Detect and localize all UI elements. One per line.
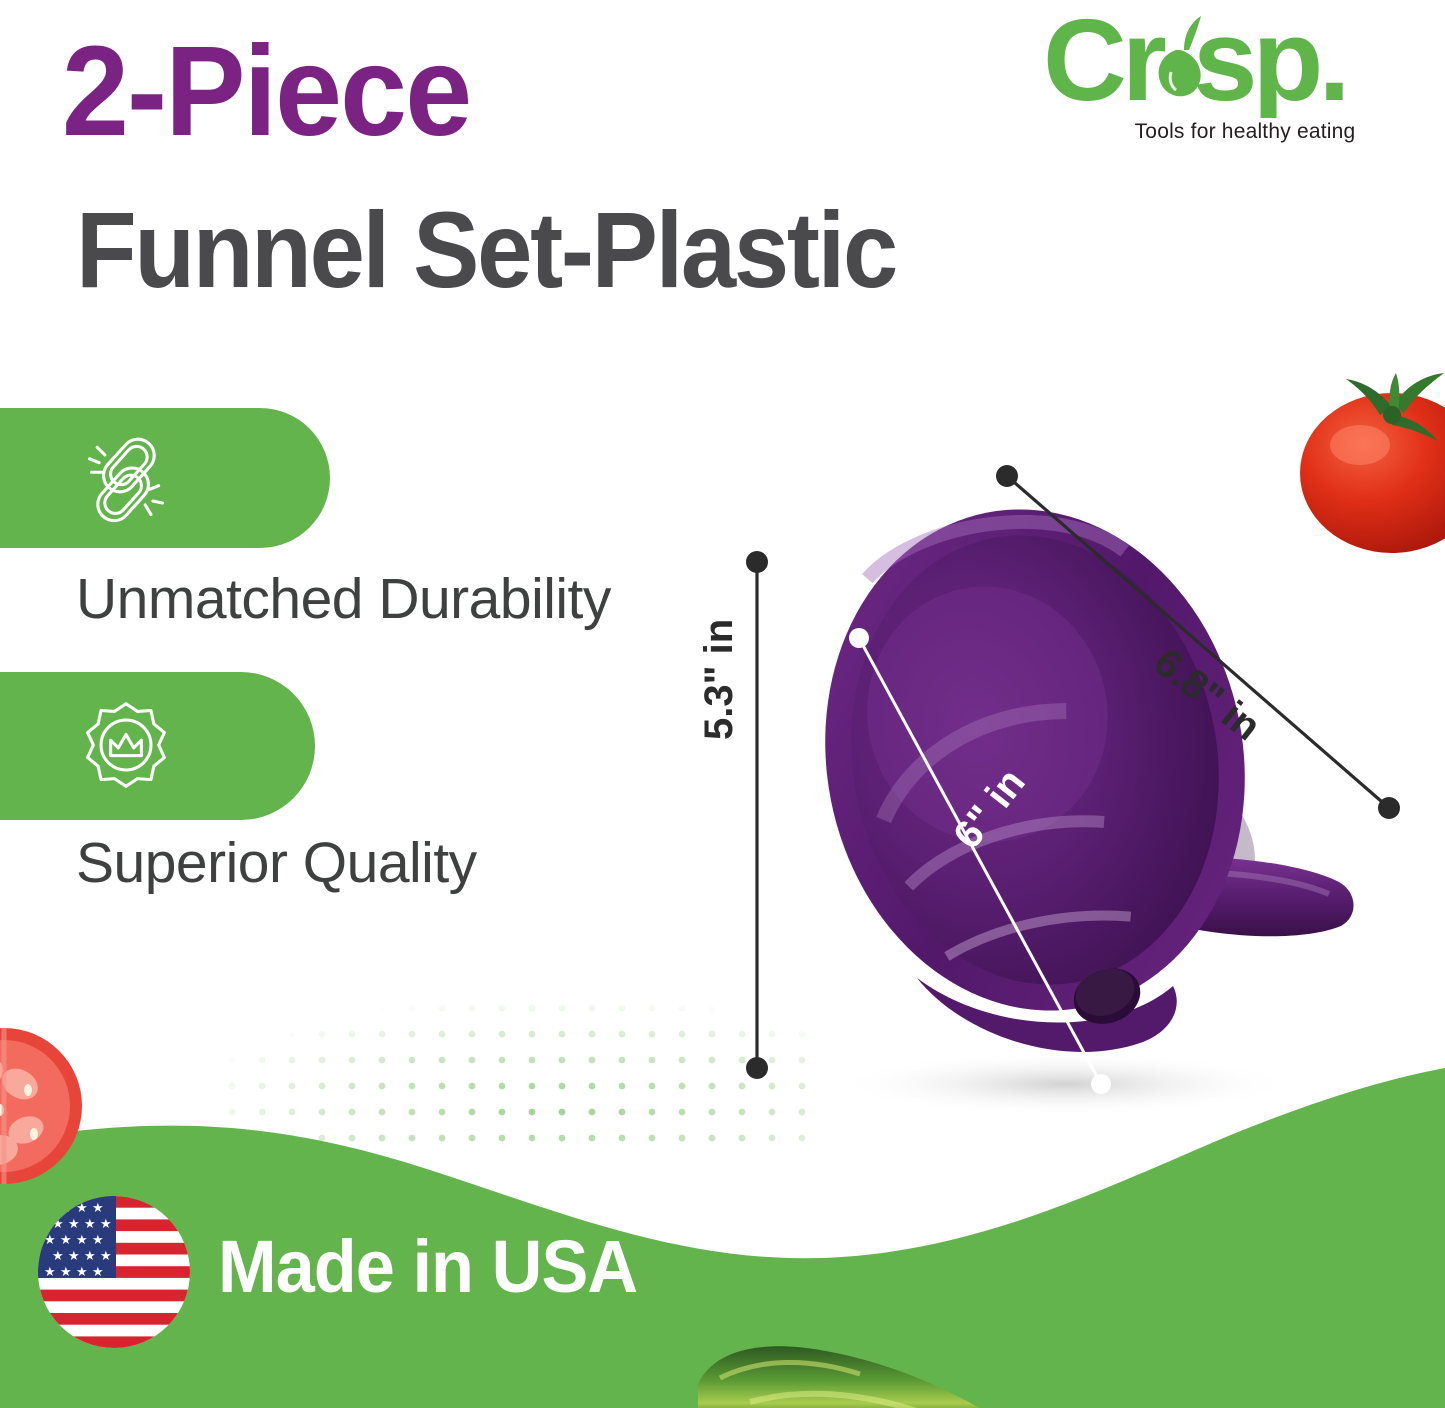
feature-label-durability: Unmatched Durability bbox=[76, 566, 611, 632]
dimension-dot bbox=[1378, 797, 1400, 819]
made-in-usa-label: Made in USA bbox=[218, 1224, 637, 1309]
svg-text:★: ★ bbox=[100, 1249, 112, 1264]
svg-text:Cr: Cr bbox=[1043, 8, 1166, 118]
chain-link-icon bbox=[78, 430, 174, 526]
crisp-logo-mark: Cr sp. bbox=[1043, 8, 1433, 118]
svg-text:★: ★ bbox=[84, 1217, 96, 1232]
crown-badge-icon bbox=[78, 698, 174, 794]
brand-tagline: Tools for healthy eating bbox=[1065, 120, 1425, 144]
svg-text:★: ★ bbox=[76, 1265, 88, 1280]
dimension-label-height: 5.3" in bbox=[697, 619, 742, 740]
dimension-dot bbox=[849, 628, 869, 648]
svg-text:★: ★ bbox=[44, 1265, 56, 1280]
svg-text:★: ★ bbox=[68, 1249, 80, 1264]
svg-text:★: ★ bbox=[60, 1265, 72, 1280]
dimension-dot bbox=[746, 1057, 768, 1079]
dimension-dot bbox=[1091, 1074, 1111, 1094]
feature-label-quality: Superior Quality bbox=[76, 830, 477, 896]
tomato-slice-icon bbox=[0, 1018, 97, 1193]
svg-text:★: ★ bbox=[84, 1249, 96, 1264]
dimension-dot bbox=[746, 551, 768, 573]
svg-text:★: ★ bbox=[68, 1217, 80, 1232]
svg-text:★: ★ bbox=[92, 1201, 104, 1216]
usa-flag-icon: ★★★★ ★★★★ ★★★★ ★★★★ ★★★★ bbox=[38, 1196, 190, 1348]
svg-text:sp.: sp. bbox=[1193, 8, 1346, 118]
svg-text:★: ★ bbox=[60, 1233, 72, 1248]
page-title-line1: 2-Piece bbox=[62, 28, 470, 156]
svg-text:★: ★ bbox=[52, 1249, 64, 1264]
svg-text:★: ★ bbox=[92, 1233, 104, 1248]
svg-text:★: ★ bbox=[92, 1265, 104, 1280]
svg-text:★: ★ bbox=[76, 1233, 88, 1248]
svg-text:★: ★ bbox=[100, 1217, 112, 1232]
cucumber-icon bbox=[690, 1332, 990, 1408]
feature-badge-quality bbox=[0, 672, 315, 820]
dimension-dot bbox=[996, 465, 1018, 487]
feature-badge-durability bbox=[0, 408, 330, 548]
brand-logo: Cr sp. Tools for healthy eating bbox=[1043, 8, 1433, 150]
page-title-line2: Funnel Set-Plastic bbox=[76, 196, 896, 304]
product-funnel-image bbox=[735, 430, 1445, 1150]
infographic-canvas: Cr sp. Tools for healthy eating 2-Piece … bbox=[0, 0, 1445, 1408]
